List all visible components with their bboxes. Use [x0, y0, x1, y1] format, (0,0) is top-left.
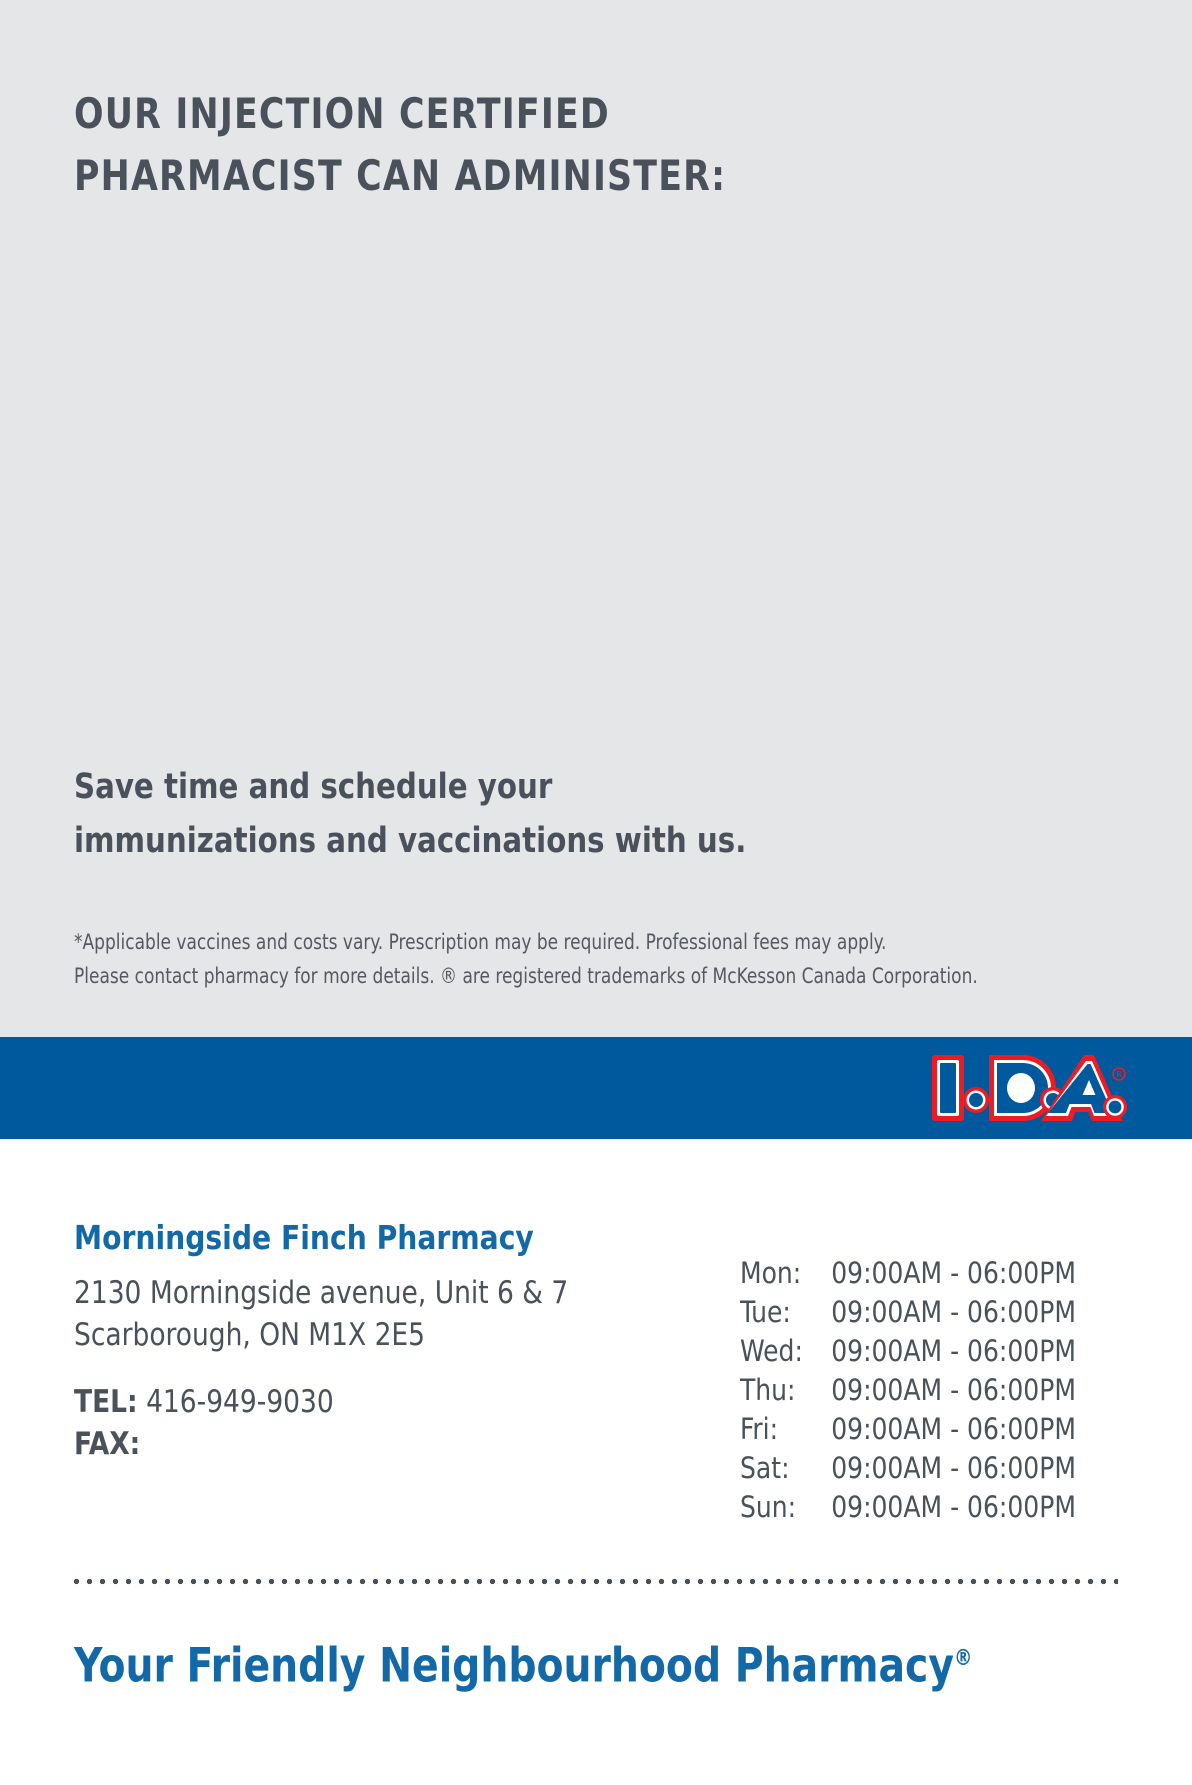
hours-day-label: Tue: — [740, 1293, 831, 1332]
ida-logo: R — [929, 1050, 1129, 1126]
hours-day-label: Fri: — [740, 1410, 831, 1449]
store-name: Morningside Finch Pharmacy — [74, 1218, 534, 1258]
hours-time-value: 09:00AM - 06:00PM — [831, 1449, 1076, 1488]
pharmacy-flyer: OUR INJECTION CERTIFIED PHARMACIST CAN A… — [0, 0, 1192, 1785]
hours-day-label: Mon: — [740, 1254, 831, 1293]
store-contact: TEL: 416-949-9030 FAX: — [74, 1381, 334, 1465]
fax-label: FAX: — [74, 1426, 140, 1462]
hours-row: Fri: 09:00AM - 06:00PM — [740, 1410, 1076, 1449]
tagline-text: Your Friendly Neighbourhood Pharmacy — [74, 1639, 954, 1694]
promo-panel: OUR INJECTION CERTIFIED PHARMACIST CAN A… — [0, 0, 1192, 1037]
page-title: OUR INJECTION CERTIFIED PHARMACIST CAN A… — [74, 83, 1034, 207]
disclaimer-line-1: *Applicable vaccines and costs vary. Pre… — [74, 926, 1014, 960]
hours-time-value: 09:00AM - 06:00PM — [831, 1293, 1076, 1332]
hours-row: Wed: 09:00AM - 06:00PM — [740, 1332, 1076, 1371]
headline-line-1: OUR INJECTION CERTIFIED — [74, 83, 1034, 145]
hours-row: Thu: 09:00AM - 06:00PM — [740, 1371, 1076, 1410]
address-line-1: 2130 Morningside avenue, Unit 6 & 7 — [74, 1272, 568, 1314]
store-hours: Mon: 09:00AM - 06:00PM Tue: 09:00AM - 06… — [740, 1254, 1076, 1527]
disclaimer-text: *Applicable vaccines and costs vary. Pre… — [74, 926, 1014, 994]
store-address: 2130 Morningside avenue, Unit 6 & 7 Scar… — [74, 1272, 568, 1356]
hours-day-label: Wed: — [740, 1332, 831, 1371]
hours-row: Tue: 09:00AM - 06:00PM — [740, 1293, 1076, 1332]
fax-line: FAX: — [74, 1423, 334, 1465]
headline-line-2: PHARMACIST CAN ADMINISTER: — [74, 145, 1034, 207]
hours-day-label: Sat: — [740, 1449, 831, 1488]
hours-day-label: Sun: — [740, 1488, 831, 1527]
hours-row: Mon: 09:00AM - 06:00PM — [740, 1254, 1076, 1293]
hours-row: Sat: 09:00AM - 06:00PM — [740, 1449, 1076, 1488]
svg-text:R: R — [1116, 1070, 1122, 1079]
hours-time-value: 09:00AM - 06:00PM — [831, 1410, 1076, 1449]
subheadline-line-1: Save time and schedule your — [74, 760, 1045, 814]
hours-time-value: 09:00AM - 06:00PM — [831, 1254, 1076, 1293]
hours-time-value: 09:00AM - 06:00PM — [831, 1371, 1076, 1410]
disclaimer-line-2: Please contact pharmacy for more details… — [74, 960, 1014, 994]
brand-band: R — [0, 1037, 1192, 1139]
telephone-label: TEL: — [74, 1384, 138, 1420]
subheadline: Save time and schedule your immunization… — [74, 760, 1045, 868]
store-info-panel: Morningside Finch Pharmacy 2130 Mornings… — [0, 1139, 1192, 1785]
telephone-line: TEL: 416-949-9030 — [74, 1381, 334, 1423]
hours-day-label: Thu: — [740, 1371, 831, 1410]
telephone-value[interactable]: 416-949-9030 — [146, 1384, 334, 1420]
hours-time-value: 09:00AM - 06:00PM — [831, 1488, 1076, 1527]
hours-time-value: 09:00AM - 06:00PM — [831, 1332, 1076, 1371]
tagline: Your Friendly Neighbourhood Pharmacy® — [74, 1629, 972, 1697]
dotted-divider — [70, 1578, 1118, 1585]
hours-row: Sun: 09:00AM - 06:00PM — [740, 1488, 1076, 1527]
address-line-2: Scarborough, ON M1X 2E5 — [74, 1314, 568, 1356]
subheadline-line-2: immunizations and vaccinations with us. — [74, 814, 1045, 868]
registered-mark: ® — [954, 1646, 972, 1671]
